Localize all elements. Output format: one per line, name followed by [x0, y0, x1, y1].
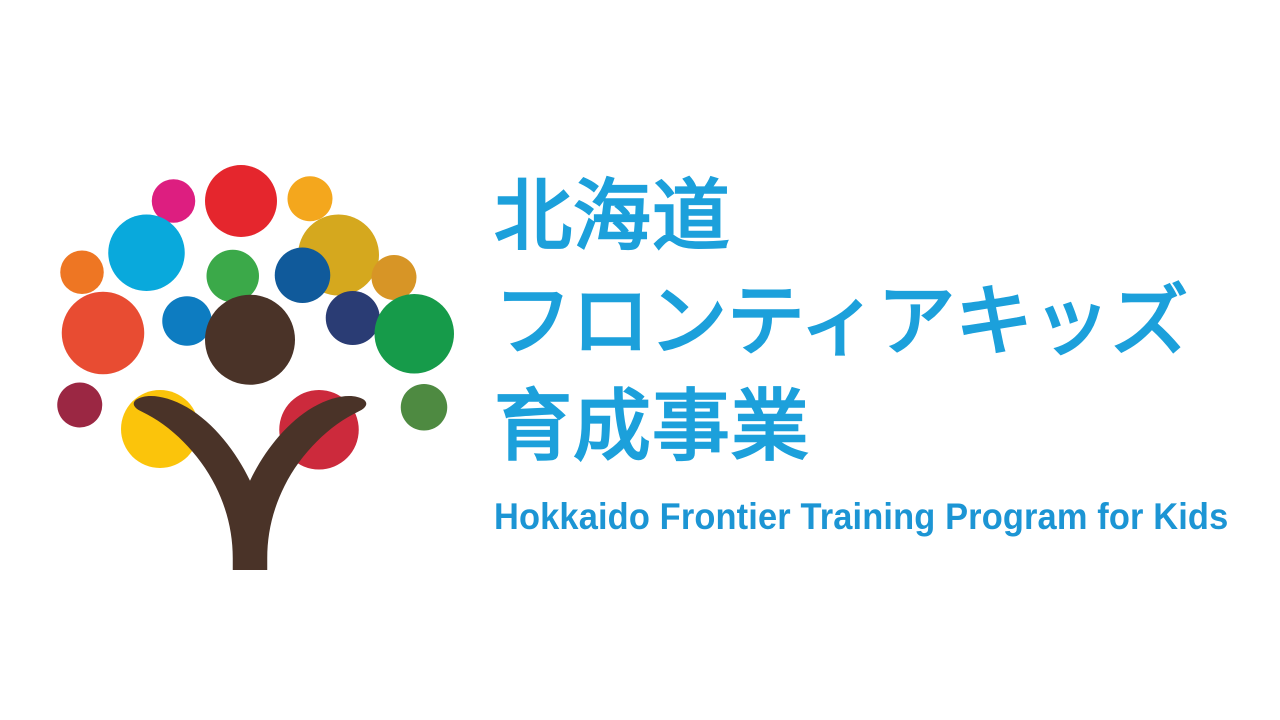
circle-maroon-small — [57, 383, 102, 428]
organization-name-line-3: 育成事業 — [494, 388, 1234, 466]
circle-steelblue — [275, 248, 331, 304]
circle-amber-small — [288, 176, 333, 221]
figure-head — [205, 295, 295, 385]
circle-ochre-small — [372, 255, 417, 300]
figure-trunk-and-arms — [134, 396, 367, 570]
circle-tomato-large — [62, 292, 145, 375]
organization-name-english: Hokkaido Frontier Training Program for K… — [494, 498, 1182, 535]
circle-olive-small — [401, 384, 448, 431]
circle-green-mid — [207, 250, 260, 303]
circle-emerald-large — [375, 294, 455, 374]
circle-cyan-large — [108, 215, 185, 292]
circle-magenta — [152, 179, 196, 223]
logo-text-block: 北海道 フロンティアキッズ 育成事業 Hokkaido Frontier Tra… — [494, 178, 1234, 535]
organization-name-line-2: フロンティアキッズ — [494, 283, 1234, 361]
circle-azure-small — [162, 296, 212, 346]
circle-red-large — [205, 165, 277, 237]
circle-navy — [326, 291, 380, 345]
logo-canvas: 北海道 フロンティアキッズ 育成事業 Hokkaido Frontier Tra… — [0, 0, 1280, 720]
tree-logo-mark — [40, 150, 460, 570]
organization-name-line-1: 北海道 — [494, 178, 1234, 256]
circle-orange-small — [60, 251, 104, 295]
